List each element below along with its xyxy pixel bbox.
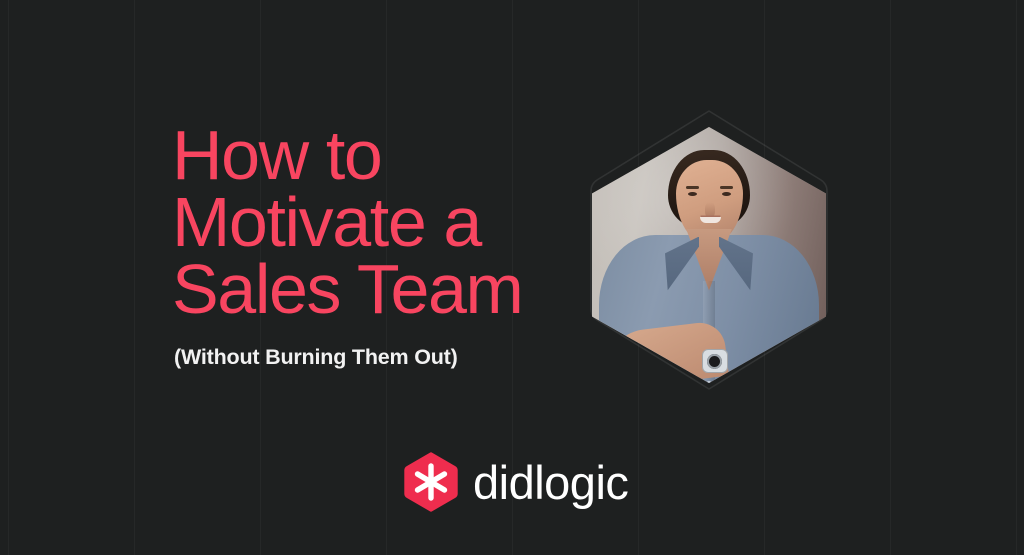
- portrait-frame: [583, 103, 835, 397]
- promo-banner: How to Motivate a Sales Team (Without Bu…: [0, 0, 1024, 555]
- subtitle: (Without Burning Them Out): [174, 346, 572, 370]
- brand-lockup[interactable]: didlogic: [404, 452, 628, 512]
- collar-right: [719, 237, 753, 293]
- collar-left: [665, 237, 699, 293]
- nose: [705, 202, 715, 218]
- headline-block: How to Motivate a Sales Team (Without Bu…: [172, 122, 572, 369]
- mouth: [700, 217, 721, 223]
- brand-name: didlogic: [473, 459, 628, 506]
- eyebrow-left: [686, 186, 699, 189]
- didlogic-hexagon-asterisk-logo-icon: [404, 452, 458, 512]
- page-title: How to Motivate a Sales Team: [172, 122, 572, 324]
- wristwatch: [702, 349, 728, 373]
- eyebrow-right: [720, 186, 733, 189]
